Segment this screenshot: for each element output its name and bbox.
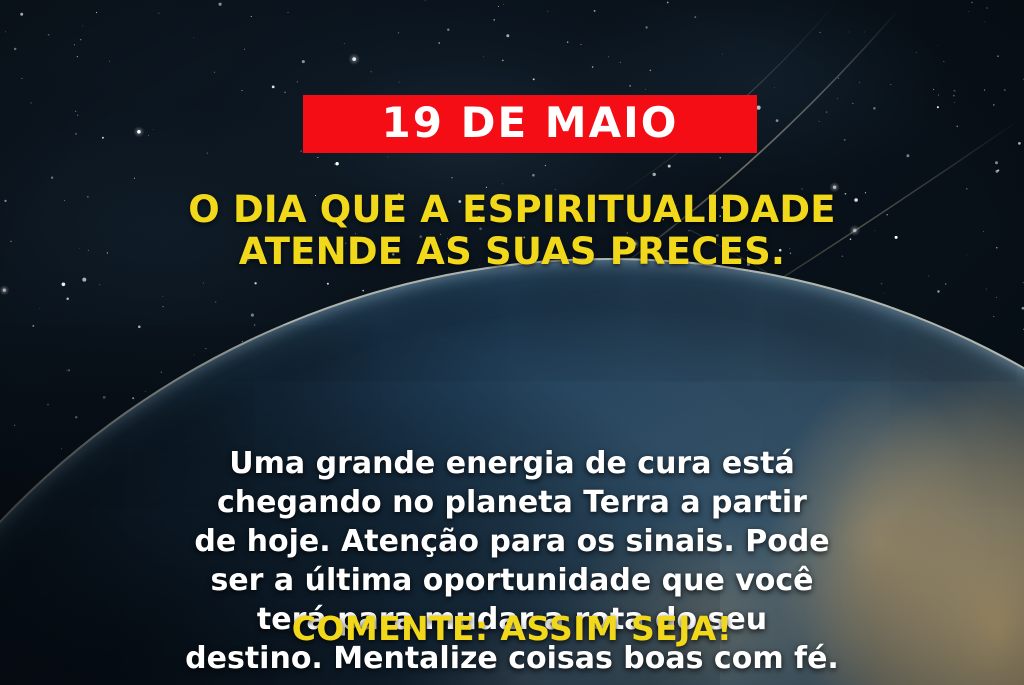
date-banner: 19 DE MAIO [303,95,757,153]
body-line-1: Uma grande energia de cura está [44,444,980,483]
body-line-4: ser a última oportunidade que você [44,561,980,600]
headline-line-2: ATENDE AS SUAS PRECES. [36,231,988,273]
date-banner-text: 19 DE MAIO [382,102,679,144]
poster-content: 19 DE MAIO O DIA QUE A ESPIRITUALIDADE A… [0,0,1024,685]
poster-canvas: 19 DE MAIO O DIA QUE A ESPIRITUALIDADE A… [0,0,1024,685]
body-line-3: de hoje. Atenção para os sinais. Pode [44,522,980,561]
headline-line-1: O DIA QUE A ESPIRITUALIDADE [36,189,988,231]
body-line-2: chegando no planeta Terra a partir [44,483,980,522]
call-to-action-text: COMENTE: ASSIM SEJA! [0,612,1024,645]
headline: O DIA QUE A ESPIRITUALIDADE ATENDE AS SU… [0,189,1024,273]
